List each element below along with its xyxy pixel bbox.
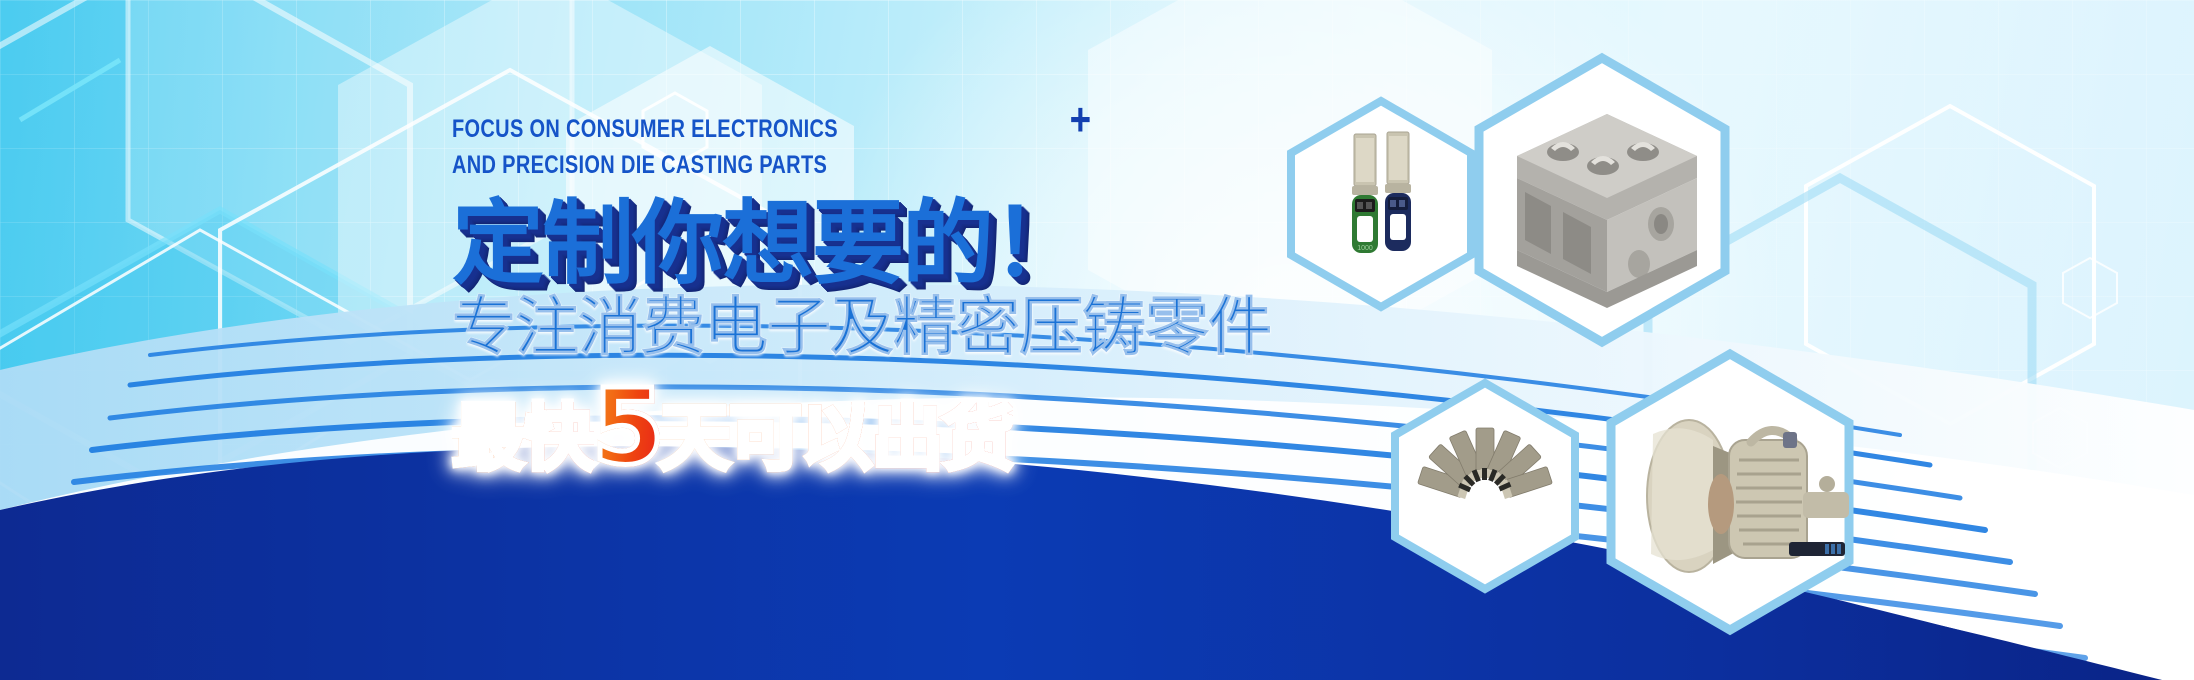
product-hexagon-connector-housings[interactable] bbox=[1390, 378, 1580, 594]
product-hexagon-engine-block[interactable] bbox=[1473, 52, 1731, 348]
promo-text: 最快 5 天可以出货 bbox=[452, 374, 1232, 480]
eyebrow-line-2: AND PRECISION DIE CASTING PARTS bbox=[452, 148, 1076, 184]
product-hexagon-antenna-unit[interactable] bbox=[1605, 348, 1855, 636]
eyebrow-text: FOCUS ON CONSUMER ELECTRONICS AND PRECIS… bbox=[452, 112, 1076, 183]
headline-text-block: FOCUS ON CONSUMER ELECTRONICS AND PRECIS… bbox=[452, 112, 1232, 480]
sub-headline: 专注消费电子及精密压铸零件 bbox=[452, 295, 1232, 362]
main-headline: 定制你想要的！ bbox=[452, 197, 1232, 291]
promo-banner: FOCUS ON CONSUMER ELECTRONICS AND PRECIS… bbox=[0, 0, 2194, 680]
promo-prefix: 最快 bbox=[452, 402, 594, 475]
eyebrow-line-1: FOCUS ON CONSUMER ELECTRONICS bbox=[452, 112, 1076, 148]
plus-icon: + bbox=[1070, 96, 1092, 142]
svg-text:1000: 1000 bbox=[1357, 245, 1373, 252]
promo-suffix: 天可以出货 bbox=[658, 402, 1013, 475]
promo-number: 5 bbox=[592, 374, 660, 480]
product-hexagon-transceivers[interactable]: 1000 bbox=[1286, 96, 1476, 312]
